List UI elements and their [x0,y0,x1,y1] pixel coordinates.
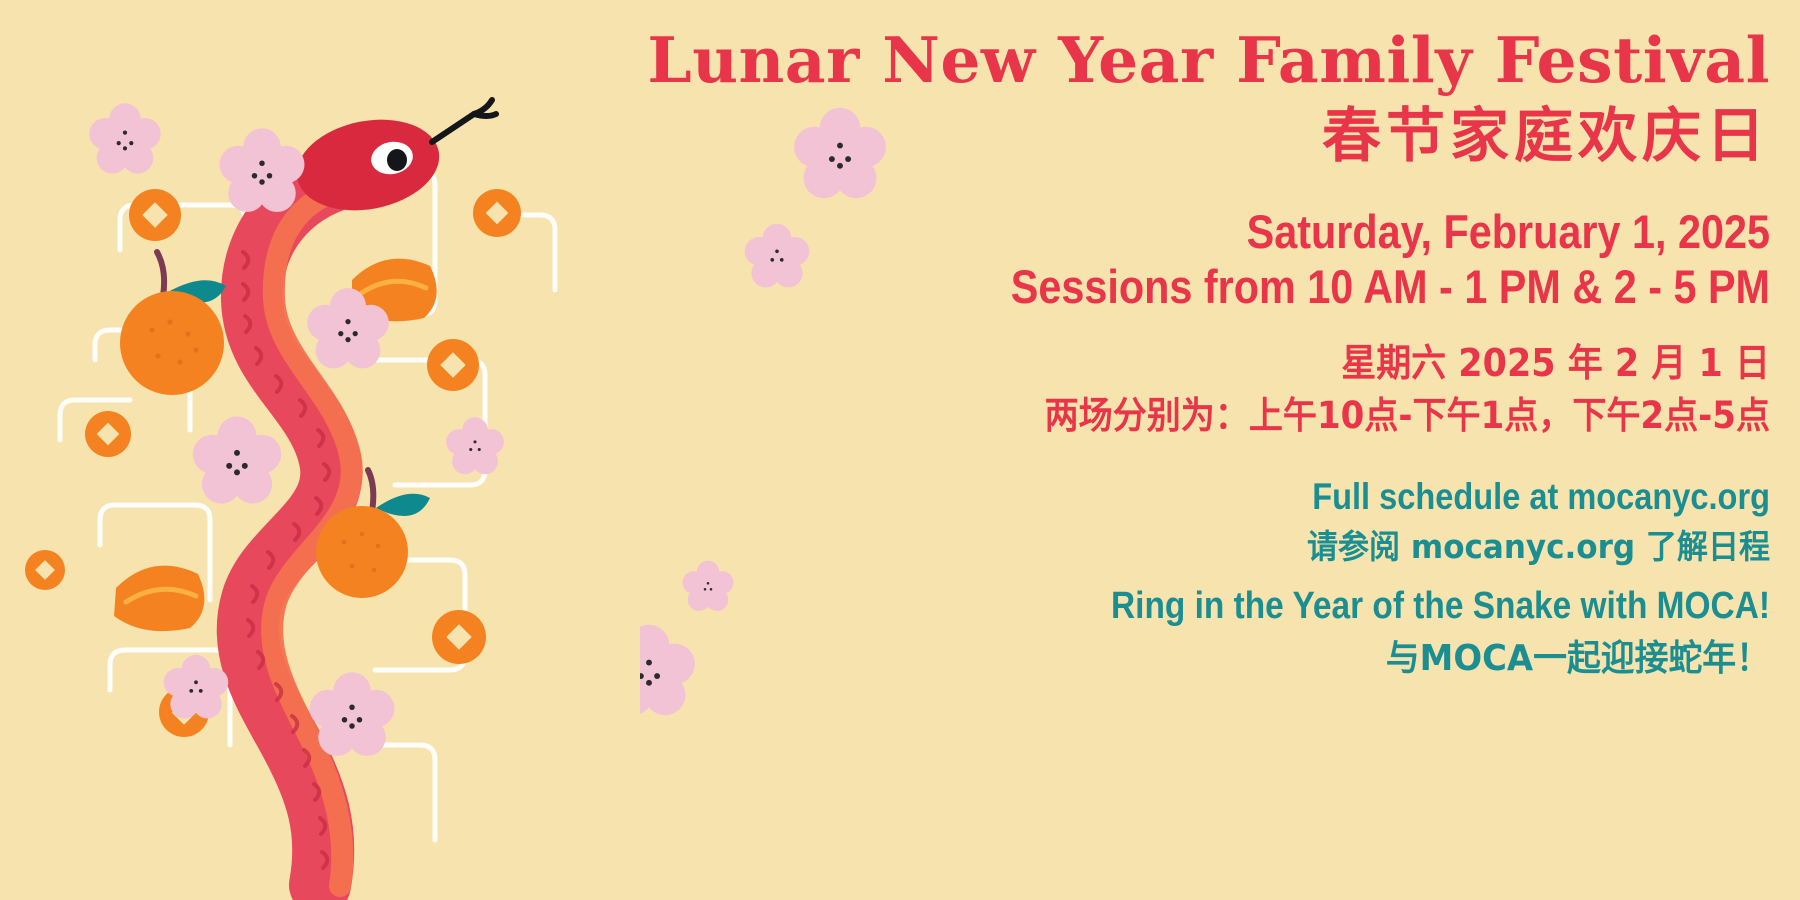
snake-tongue [432,114,474,142]
gold-coin-6 [432,610,486,664]
gold-coin-3 [427,339,479,391]
snake-illustration [243,100,496,886]
tagline-chinese: 与MOCA一起迎接蛇年！ [661,637,1770,682]
tagline-english: Ring in the Year of the Snake with MOCA! [732,584,1770,630]
cherry-blossom-6 [164,655,229,719]
schedule-link-english[interactable]: Full schedule at mocanyc.org [732,475,1770,519]
poster-text-block: Lunar New Year Family Festival 春节家庭欢庆日 S… [590,28,1770,682]
event-sessions-chinese: 两场分别为：上午10点-下午1点，下午2点-5点 [684,394,1770,438]
gold-coin-2 [473,189,521,237]
poster-canvas: Lunar New Year Family Festival 春节家庭欢庆日 S… [0,0,1800,900]
festival-title-english: Lunar New Year Family Festival [590,28,1770,94]
event-sessions-english: Sessions from 10 AM - 1 PM & 2 - 5 PM [732,260,1770,315]
gold-coin-4 [85,411,131,457]
cherry-blossom-5 [446,417,504,474]
cherry-blossom-2 [220,128,305,212]
cherry-blossom-7 [310,672,395,756]
gold-ingot-lower [114,566,204,631]
tangerine-upper [120,252,226,395]
schedule-link-chinese[interactable]: 请参阅 mocanyc.org 了解日程 [661,527,1770,568]
event-date-english: Saturday, February 1, 2025 [732,205,1770,260]
lunar-new-year-illustration [0,0,640,900]
cherry-blossom-4 [193,417,281,504]
gold-coin-5 [25,550,65,590]
event-date-chinese: 星期六 2025 年 2 月 1 日 [684,341,1770,387]
festival-title-chinese: 春节家庭欢庆日 [590,100,1770,172]
cherry-blossom-1 [89,103,160,173]
gold-coin-1 [129,189,181,241]
